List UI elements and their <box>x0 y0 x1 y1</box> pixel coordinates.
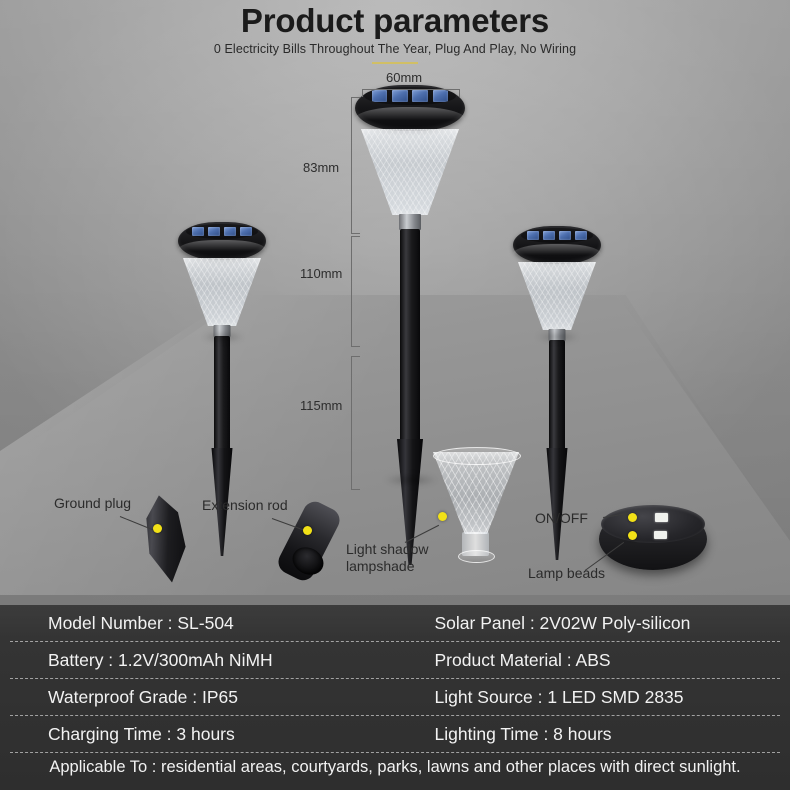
lampshade-part-base <box>458 550 495 563</box>
solar-panel-face <box>186 224 258 239</box>
spec-applicable-to: Applicable To : residential areas, court… <box>0 757 790 778</box>
spec-battery: Battery : 1.2V/300mAh NiMH <box>0 650 435 671</box>
lamp-right-shadow <box>527 330 589 344</box>
led-bead <box>654 531 667 539</box>
dim-spike-tick-b <box>351 489 360 490</box>
specifications-table: Model Number : SL-504 Solar Panel : 2V02… <box>0 605 790 790</box>
dim-spike-tick-t <box>351 356 360 357</box>
solar-cell <box>575 231 587 240</box>
lampshade-marker <box>438 512 447 521</box>
lamp-left-shadow <box>192 330 254 344</box>
solar-cell <box>527 231 539 240</box>
lamp-beads-top-face <box>601 505 705 543</box>
dim-head-tick-t <box>351 97 360 98</box>
solar-cell <box>208 227 220 236</box>
extension-rod-marker <box>303 526 312 535</box>
spec-product-material: Product Material : ABS <box>435 650 790 671</box>
solar-cell <box>559 231 571 240</box>
ground-plug-marker <box>153 524 162 533</box>
led-bead <box>655 513 668 522</box>
dim-pole-tick-t <box>351 236 360 237</box>
table-row-applicable: Applicable To : residential areas, court… <box>0 753 790 784</box>
dim-pole-label: 110mm <box>300 266 342 281</box>
table-row: Charging Time : 3 hours Lighting Time : … <box>0 716 790 752</box>
spec-solar-panel: Solar Panel : 2V02W Poly-silicon <box>435 613 790 634</box>
dim-width-label: 60mm <box>386 70 422 85</box>
dim-width-tick-l <box>362 89 363 97</box>
metal-collar <box>399 214 421 230</box>
spec-lighting-time: Lighting Time : 8 hours <box>435 724 790 745</box>
pole <box>214 336 230 450</box>
page-title: Product parameters <box>0 2 790 40</box>
solar-cell <box>412 90 428 101</box>
accent-underline <box>372 62 418 64</box>
dim-spike-label: 115mm <box>300 398 342 413</box>
lampshade-part-rim <box>433 447 521 465</box>
dim-head-label: 83mm <box>303 160 339 175</box>
page-subtitle: 0 Electricity Bills Throughout The Year,… <box>0 42 790 56</box>
solar-cell <box>192 227 204 236</box>
solar-cell <box>392 90 408 101</box>
product-parameters-infographic: Product parameters 0 Electricity Bills T… <box>0 0 790 790</box>
spec-waterproof-grade: Waterproof Grade : IP65 <box>0 687 435 708</box>
solar-cell <box>372 90 388 101</box>
solar-cell <box>224 227 236 236</box>
on-off-marker <box>628 513 637 522</box>
lamp-beads-label: Lamp beads <box>528 565 605 582</box>
ground-plug-label: Ground plug <box>54 495 131 512</box>
spec-model-number: Model Number : SL-504 <box>0 613 435 634</box>
dim-width-bar <box>362 89 460 90</box>
dim-spike-bar <box>351 356 352 490</box>
table-row: Model Number : SL-504 Solar Panel : 2V02… <box>0 605 790 641</box>
solar-cell <box>240 227 252 236</box>
lampshade-label: Light shadowlampshade <box>346 541 429 575</box>
dim-pole-tick-b <box>351 346 360 347</box>
solar-cell <box>543 231 555 240</box>
spec-charging-time: Charging Time : 3 hours <box>0 724 435 745</box>
pole <box>400 229 420 441</box>
table-row: Waterproof Grade : IP65 Light Source : 1… <box>0 679 790 715</box>
on-off-label: ON/OFF <box>535 510 588 527</box>
lamp-center-shadow <box>372 472 450 488</box>
spec-light-source: Light Source : 1 LED SMD 2835 <box>435 687 790 708</box>
extension-rod-label: Extension rod <box>202 497 288 514</box>
dim-pole-bar <box>351 236 352 347</box>
table-row: Battery : 1.2V/300mAh NiMH Product Mater… <box>0 642 790 678</box>
solar-cell <box>433 90 449 101</box>
dim-head-tick-b <box>351 233 360 234</box>
lamp-beads-marker <box>628 531 637 540</box>
dim-width-tick-r <box>459 89 460 97</box>
dim-head-bar <box>351 97 352 234</box>
solar-panel-face <box>521 228 593 243</box>
pole <box>549 340 565 450</box>
